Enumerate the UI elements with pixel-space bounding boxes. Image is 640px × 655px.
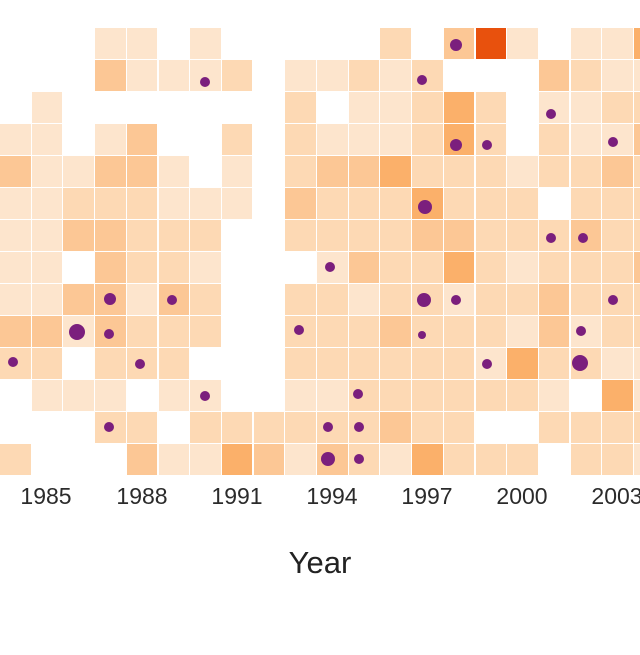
heatmap-cell bbox=[412, 412, 443, 443]
heatmap-cell bbox=[507, 284, 538, 315]
heatmap-cell bbox=[476, 316, 507, 347]
heatmap-cell bbox=[380, 316, 411, 347]
heatmap-cell bbox=[159, 188, 190, 219]
heatmap-cell bbox=[571, 156, 602, 187]
heatmap-cell bbox=[190, 444, 221, 475]
heatmap-cell bbox=[222, 412, 253, 443]
heatmap-cell bbox=[444, 220, 475, 251]
heatmap-cell bbox=[412, 92, 443, 123]
data-point bbox=[417, 293, 431, 307]
heatmap-cell bbox=[476, 220, 507, 251]
heatmap-cell bbox=[190, 252, 221, 283]
heatmap-cell bbox=[634, 124, 640, 155]
heatmap-cell bbox=[602, 188, 633, 219]
data-point bbox=[323, 422, 333, 432]
heatmap-cell bbox=[285, 92, 316, 123]
heatmap-cell bbox=[380, 284, 411, 315]
heatmap-cell bbox=[159, 444, 190, 475]
heatmap-cell bbox=[507, 156, 538, 187]
heatmap-cell bbox=[507, 252, 538, 283]
heatmap-cell bbox=[190, 188, 221, 219]
heatmap-cell bbox=[380, 412, 411, 443]
heatmap-cell bbox=[539, 380, 570, 411]
data-point bbox=[482, 359, 492, 369]
heatmap-cell bbox=[317, 124, 348, 155]
heatmap-cell bbox=[0, 252, 31, 283]
heatmap-cell bbox=[539, 284, 570, 315]
heatmap-cell bbox=[127, 124, 158, 155]
heatmap-cell bbox=[127, 284, 158, 315]
heatmap-cell bbox=[412, 316, 443, 347]
data-point bbox=[546, 233, 556, 243]
heatmap-cell bbox=[285, 380, 316, 411]
heatmap-cell bbox=[507, 348, 538, 379]
heatmap-cell bbox=[571, 124, 602, 155]
heatmap-cell bbox=[539, 348, 570, 379]
heatmap-cell bbox=[444, 92, 475, 123]
data-point bbox=[482, 140, 492, 150]
heatmap-cell bbox=[507, 28, 538, 59]
heatmap-cell bbox=[539, 252, 570, 283]
heatmap-cell bbox=[32, 252, 63, 283]
heatmap-cell bbox=[127, 412, 158, 443]
heatmap-cell bbox=[634, 348, 640, 379]
heatmap-cell bbox=[634, 156, 640, 187]
x-tick-label: 2000 bbox=[496, 483, 547, 510]
heatmap-cell bbox=[476, 156, 507, 187]
x-axis-title: Year bbox=[0, 545, 640, 581]
heatmap-cell bbox=[127, 220, 158, 251]
heatmap-cell bbox=[317, 348, 348, 379]
heatmap-cell bbox=[285, 60, 316, 91]
heatmap-cell bbox=[0, 124, 31, 155]
heatmap-cell bbox=[159, 220, 190, 251]
data-point bbox=[321, 452, 335, 466]
heatmap-cell bbox=[32, 220, 63, 251]
heatmap-cell bbox=[476, 252, 507, 283]
heatmap-cell bbox=[412, 252, 443, 283]
heatmap-cell bbox=[254, 444, 285, 475]
data-point bbox=[69, 324, 85, 340]
heatmap-cell bbox=[476, 380, 507, 411]
heatmap-cell bbox=[349, 188, 380, 219]
heatmap-cell bbox=[380, 444, 411, 475]
heatmap-cell bbox=[349, 156, 380, 187]
heatmap-cell bbox=[634, 252, 640, 283]
data-point bbox=[135, 359, 145, 369]
heatmap-cell bbox=[63, 380, 94, 411]
heatmap-cell bbox=[159, 348, 190, 379]
heatmap-cell bbox=[222, 124, 253, 155]
heatmap-cell bbox=[380, 60, 411, 91]
data-point bbox=[450, 139, 462, 151]
data-point bbox=[450, 39, 462, 51]
heatmap-figure: 1985198819911994199720002003 Year bbox=[0, 0, 640, 655]
heatmap-cell bbox=[539, 316, 570, 347]
x-tick-label: 2003 bbox=[591, 483, 640, 510]
data-point bbox=[578, 233, 588, 243]
heatmap-cell bbox=[602, 156, 633, 187]
heatmap-cell bbox=[0, 444, 31, 475]
heatmap-cell bbox=[380, 28, 411, 59]
heatmap-cell bbox=[95, 380, 126, 411]
heatmap-cell bbox=[349, 92, 380, 123]
heatmap-cell bbox=[444, 348, 475, 379]
heatmap-cell bbox=[380, 348, 411, 379]
heatmap-cell bbox=[634, 284, 640, 315]
x-tick-label: 1994 bbox=[306, 483, 357, 510]
heatmap-cell bbox=[412, 124, 443, 155]
data-point bbox=[104, 329, 114, 339]
heatmap-cell bbox=[285, 156, 316, 187]
x-tick-label: 1985 bbox=[20, 483, 71, 510]
heatmap-cell bbox=[634, 412, 640, 443]
heatmap-cell bbox=[95, 28, 126, 59]
heatmap-cell bbox=[127, 60, 158, 91]
heatmap-cell bbox=[349, 252, 380, 283]
heatmap-cell bbox=[317, 284, 348, 315]
plot-area bbox=[0, 0, 640, 485]
heatmap-cell bbox=[190, 28, 221, 59]
heatmap-cell bbox=[222, 156, 253, 187]
data-point bbox=[353, 389, 363, 399]
heatmap-cell bbox=[95, 60, 126, 91]
heatmap-cell bbox=[285, 412, 316, 443]
heatmap-cell bbox=[602, 92, 633, 123]
heatmap-cell bbox=[507, 380, 538, 411]
heatmap-cell bbox=[63, 156, 94, 187]
x-tick-label: 1988 bbox=[116, 483, 167, 510]
heatmap-cell bbox=[412, 156, 443, 187]
heatmap-cell bbox=[571, 252, 602, 283]
heatmap-cell bbox=[222, 60, 253, 91]
heatmap-cell bbox=[539, 412, 570, 443]
heatmap-cell bbox=[95, 220, 126, 251]
heatmap-cell bbox=[412, 348, 443, 379]
heatmap-cell bbox=[127, 188, 158, 219]
heatmap-cell bbox=[602, 444, 633, 475]
heatmap-cell bbox=[412, 220, 443, 251]
heatmap-cell bbox=[349, 348, 380, 379]
heatmap-cell bbox=[32, 284, 63, 315]
heatmap-cell bbox=[571, 60, 602, 91]
heatmap-cell bbox=[159, 60, 190, 91]
data-point bbox=[8, 357, 18, 367]
data-point bbox=[200, 77, 210, 87]
heatmap-cell bbox=[380, 252, 411, 283]
heatmap-cell bbox=[602, 412, 633, 443]
heatmap-cell bbox=[602, 60, 633, 91]
heatmap-cell bbox=[634, 316, 640, 347]
heatmap-cell bbox=[634, 444, 640, 475]
heatmap-cell bbox=[507, 316, 538, 347]
heatmap-cell bbox=[539, 92, 570, 123]
heatmap-cell bbox=[32, 156, 63, 187]
heatmap-cell bbox=[444, 380, 475, 411]
heatmap-cell bbox=[476, 124, 507, 155]
heatmap-cell bbox=[0, 316, 31, 347]
heatmap-cell bbox=[349, 316, 380, 347]
heatmap-cell bbox=[317, 188, 348, 219]
data-point bbox=[418, 200, 432, 214]
heatmap-cell bbox=[444, 412, 475, 443]
heatmap-cell bbox=[349, 284, 380, 315]
data-point bbox=[417, 75, 427, 85]
heatmap-cell bbox=[190, 284, 221, 315]
heatmap-cell bbox=[159, 380, 190, 411]
heatmap-cell bbox=[285, 220, 316, 251]
heatmap-cell bbox=[444, 188, 475, 219]
heatmap-cell bbox=[476, 188, 507, 219]
heatmap-cell bbox=[349, 124, 380, 155]
heatmap-cell bbox=[95, 252, 126, 283]
data-point bbox=[167, 295, 177, 305]
data-point bbox=[294, 325, 304, 335]
heatmap-cell bbox=[380, 188, 411, 219]
heatmap-cell bbox=[285, 124, 316, 155]
heatmap-cell bbox=[127, 156, 158, 187]
x-tick-label: 1997 bbox=[401, 483, 452, 510]
heatmap-cell bbox=[634, 188, 640, 219]
heatmap-cell bbox=[634, 60, 640, 91]
heatmap-cell bbox=[222, 444, 253, 475]
heatmap-cell bbox=[476, 284, 507, 315]
heatmap-cell bbox=[95, 188, 126, 219]
data-point bbox=[608, 295, 618, 305]
heatmap-cell bbox=[317, 380, 348, 411]
heatmap-cell bbox=[349, 60, 380, 91]
data-point bbox=[354, 422, 364, 432]
heatmap-cell bbox=[0, 188, 31, 219]
heatmap-cell bbox=[380, 92, 411, 123]
data-point bbox=[451, 295, 461, 305]
data-point bbox=[104, 422, 114, 432]
heatmap-cell bbox=[159, 252, 190, 283]
heatmap-cell bbox=[95, 124, 126, 155]
heatmap-cell bbox=[95, 348, 126, 379]
heatmap-cell bbox=[95, 156, 126, 187]
heatmap-cell bbox=[602, 28, 633, 59]
heatmap-cell bbox=[634, 92, 640, 123]
heatmap-cell bbox=[127, 316, 158, 347]
heatmap-cell bbox=[571, 92, 602, 123]
data-point bbox=[418, 331, 426, 339]
heatmap-cell bbox=[127, 252, 158, 283]
heatmap-cell bbox=[444, 252, 475, 283]
heatmap-cell bbox=[285, 284, 316, 315]
heatmap-cell bbox=[602, 316, 633, 347]
heatmap-cell bbox=[602, 252, 633, 283]
data-point bbox=[325, 262, 335, 272]
heatmap-cell bbox=[412, 380, 443, 411]
heatmap-cell bbox=[602, 380, 633, 411]
heatmap-cell bbox=[634, 220, 640, 251]
heatmap-cell bbox=[0, 156, 31, 187]
heatmap-cell bbox=[317, 316, 348, 347]
heatmap-cell bbox=[63, 188, 94, 219]
data-point bbox=[572, 355, 588, 371]
heatmap-cell bbox=[412, 60, 443, 91]
heatmap-cell bbox=[571, 444, 602, 475]
heatmap-cell bbox=[190, 316, 221, 347]
heatmap-cell bbox=[285, 444, 316, 475]
heatmap-cell bbox=[380, 220, 411, 251]
heatmap-cell bbox=[571, 284, 602, 315]
heatmap-cell bbox=[159, 316, 190, 347]
heatmap-cell bbox=[539, 60, 570, 91]
heatmap-cell bbox=[127, 444, 158, 475]
data-point bbox=[546, 109, 556, 119]
heatmap-cell bbox=[317, 156, 348, 187]
data-point bbox=[608, 137, 618, 147]
heatmap-cell bbox=[539, 124, 570, 155]
heatmap-cell bbox=[444, 444, 475, 475]
heatmap-cell bbox=[476, 92, 507, 123]
heatmap-cell bbox=[380, 156, 411, 187]
heatmap-cell bbox=[444, 156, 475, 187]
heatmap-cell bbox=[32, 188, 63, 219]
heatmap-cell bbox=[507, 444, 538, 475]
heatmap-cell bbox=[63, 284, 94, 315]
heatmap-cell bbox=[539, 156, 570, 187]
heatmap-cell bbox=[222, 188, 253, 219]
data-point bbox=[576, 326, 586, 336]
heatmap-cell bbox=[571, 188, 602, 219]
heatmap-cell bbox=[317, 220, 348, 251]
heatmap-cell bbox=[634, 28, 640, 59]
data-point bbox=[354, 454, 364, 464]
data-point bbox=[104, 293, 116, 305]
data-point bbox=[200, 391, 210, 401]
x-axis: 1985198819911994199720002003 bbox=[0, 483, 640, 529]
heatmap-cell bbox=[32, 316, 63, 347]
heatmap-cell bbox=[285, 348, 316, 379]
heatmap-cell bbox=[634, 380, 640, 411]
heatmap-cell bbox=[507, 220, 538, 251]
heatmap-cell bbox=[32, 124, 63, 155]
heatmap-cell bbox=[63, 220, 94, 251]
heatmap-cell bbox=[412, 444, 443, 475]
heatmap-cell bbox=[571, 412, 602, 443]
heatmap-cell bbox=[285, 188, 316, 219]
heatmap-cell bbox=[380, 124, 411, 155]
heatmap-cell bbox=[571, 28, 602, 59]
heatmap-cell bbox=[476, 28, 507, 59]
heatmap-cell bbox=[127, 28, 158, 59]
heatmap-cell bbox=[254, 412, 285, 443]
heatmap-cell bbox=[32, 380, 63, 411]
heatmap-cell bbox=[32, 348, 63, 379]
heatmap-cell bbox=[380, 380, 411, 411]
heatmap-cell bbox=[159, 156, 190, 187]
x-tick-label: 1991 bbox=[211, 483, 262, 510]
heatmap-cell bbox=[0, 284, 31, 315]
heatmap-cell bbox=[507, 188, 538, 219]
heatmap-cell bbox=[0, 220, 31, 251]
heatmap-cell bbox=[476, 444, 507, 475]
heatmap-cell bbox=[602, 220, 633, 251]
heatmap-cell bbox=[602, 348, 633, 379]
heatmap-cell bbox=[444, 316, 475, 347]
heatmap-cell bbox=[32, 92, 63, 123]
heatmap-cell bbox=[190, 220, 221, 251]
heatmap-cell bbox=[317, 60, 348, 91]
heatmap-cell bbox=[349, 220, 380, 251]
heatmap-cell bbox=[190, 412, 221, 443]
